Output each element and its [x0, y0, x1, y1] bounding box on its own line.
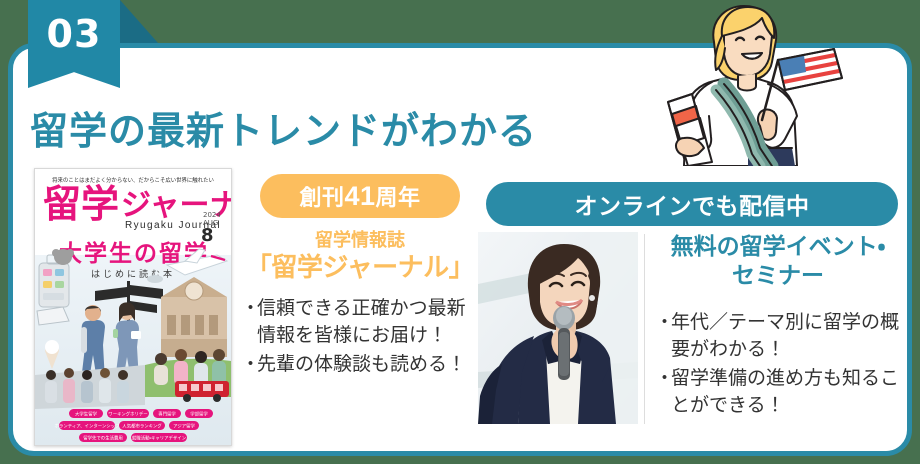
ribbon-fold [120, 0, 158, 43]
seminar-photo [478, 232, 638, 424]
anniversary-badge: 創刊41周年 [260, 174, 460, 218]
step-number-ribbon: 03 [28, 0, 120, 88]
svg-text:2024: 2024 [203, 211, 221, 219]
anniversary-prefix: 創刊 [299, 180, 344, 212]
event-benefits-list: 年代／テーマ別に留学の概要がわかる！ 留学準備の進め方も知ることができる！ [658, 310, 902, 420]
seminar-photo-art [478, 232, 638, 424]
svg-text:ボランティア、インターンシップ: ボランティア、インターンシップ [55, 422, 121, 429]
page-title: 留学の最新トレンドがわかる [30, 100, 537, 155]
svg-text:アジア留学: アジア留学 [173, 422, 195, 429]
magazine-subtitle-line2: 「留学ジャーナル」 [244, 252, 476, 284]
list-item: 信頼できる正確かつ最新情報を皆様にお届け！ [244, 296, 476, 350]
event-heading-line2: セミナー [732, 262, 824, 288]
svg-text:就職活動・キャリアデザイン: 就職活動・キャリアデザイン [132, 434, 187, 441]
magazine-subtitle: 留学情報誌 「留学ジャーナル」 [244, 230, 476, 284]
list-item: 留学準備の進め方も知ることができる！ [658, 366, 902, 420]
event-heading-line1: 無料の留学イベント・ [671, 233, 886, 259]
list-item: 先輩の体験談も読める！ [244, 352, 476, 379]
anniversary-number: 41 [344, 181, 375, 212]
student-illustration [652, 0, 882, 166]
magazine-info-column: 創刊41周年 留学情報誌 「留学ジャーナル」 信頼できる正確かつ最新情報を皆様に… [244, 168, 476, 381]
online-badge: オンラインでも配信中 [486, 182, 898, 226]
column-divider [644, 234, 645, 424]
svg-text:人気都市ランキング: 人気都市ランキング [122, 422, 162, 429]
svg-text:ワーキングホリデー: ワーキングホリデー [108, 410, 147, 417]
svg-text:専門留学: 専門留学 [158, 410, 176, 417]
list-item: 年代／テーマ別に留学の概要がわかる！ [658, 310, 902, 364]
svg-text:学部留学: 学部留学 [190, 410, 208, 417]
svg-text:はじめに読む本: はじめに読む本 [91, 268, 175, 279]
event-heading: 無料の留学イベント・ セミナー [658, 232, 898, 290]
content-columns: 将来のことはまだよく分からない、だからこそ広い世界に触れたい 留学 ジャーナル … [8, 160, 912, 456]
svg-text:将来のことはまだよく分からない、だからこそ広い世界に触れたい: 将来のことはまだよく分からない、だからこそ広い世界に触れたい [52, 176, 214, 184]
magazine-cover[interactable]: 将来のことはまだよく分からない、だからこそ広い世界に触れたい 留学 ジャーナル … [34, 168, 232, 446]
svg-text:留学: 留学 [43, 184, 119, 226]
svg-text:留学先での生活費用: 留学先での生活費用 [83, 434, 123, 441]
ribbon-number: 03 [28, 0, 120, 68]
svg-text:大学生留学: 大学生留学 [75, 410, 98, 417]
anniversary-suffix: 周年 [376, 180, 421, 212]
magazine-subtitle-line1: 留学情報誌 [244, 230, 476, 252]
magazine-cover-art: 将来のことはまだよく分からない、だからこそ広い世界に触れたい 留学 ジャーナル … [35, 169, 231, 445]
magazine-benefits-list: 信頼できる正確かつ最新情報を皆様にお届け！ 先輩の体験談も読める！ [244, 296, 476, 379]
student-illustration-svg [652, 0, 882, 166]
event-benefits-wrap: 年代／テーマ別に留学の概要がわかる！ 留学準備の進め方も知ることができる！ [658, 300, 902, 422]
promo-banner: 03 留学の最新トレンドがわかる [0, 0, 920, 464]
